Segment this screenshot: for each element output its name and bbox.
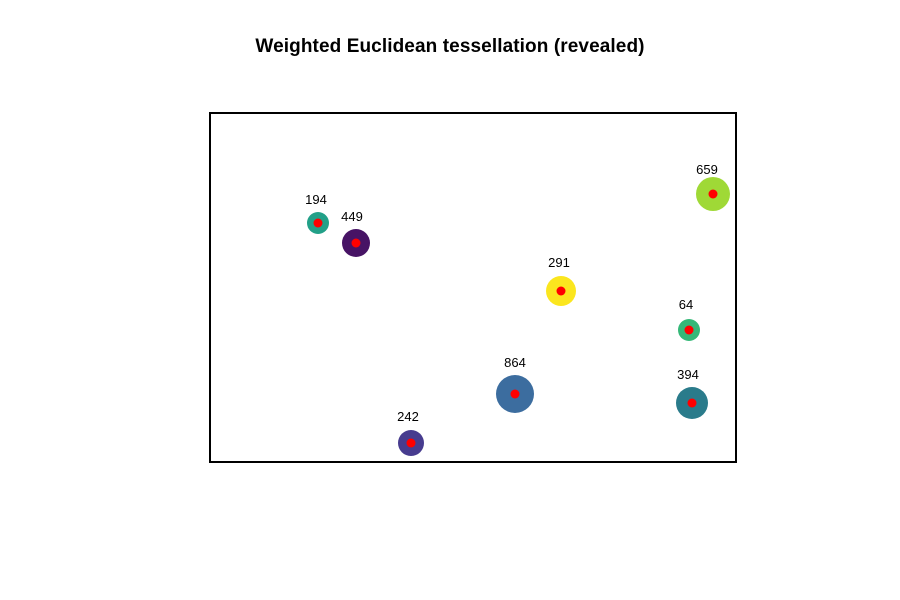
tessellation-canvas: [211, 114, 739, 465]
site-center-dot[interactable]: [685, 326, 694, 335]
plot-area: 65919444929164864394242: [209, 112, 737, 463]
site-center-dot[interactable]: [688, 399, 697, 408]
site-center-dot[interactable]: [557, 287, 566, 296]
site-center-dot[interactable]: [407, 439, 416, 448]
tessellation-figure: Weighted Euclidean tessellation (reveale…: [0, 0, 900, 600]
site-center-dot[interactable]: [314, 219, 323, 228]
site-disc-group: [307, 177, 730, 456]
site-center-dot[interactable]: [709, 190, 718, 199]
site-center-dot[interactable]: [352, 239, 361, 248]
page-title: Weighted Euclidean tessellation (reveale…: [0, 36, 900, 58]
site-center-dot[interactable]: [511, 390, 520, 399]
